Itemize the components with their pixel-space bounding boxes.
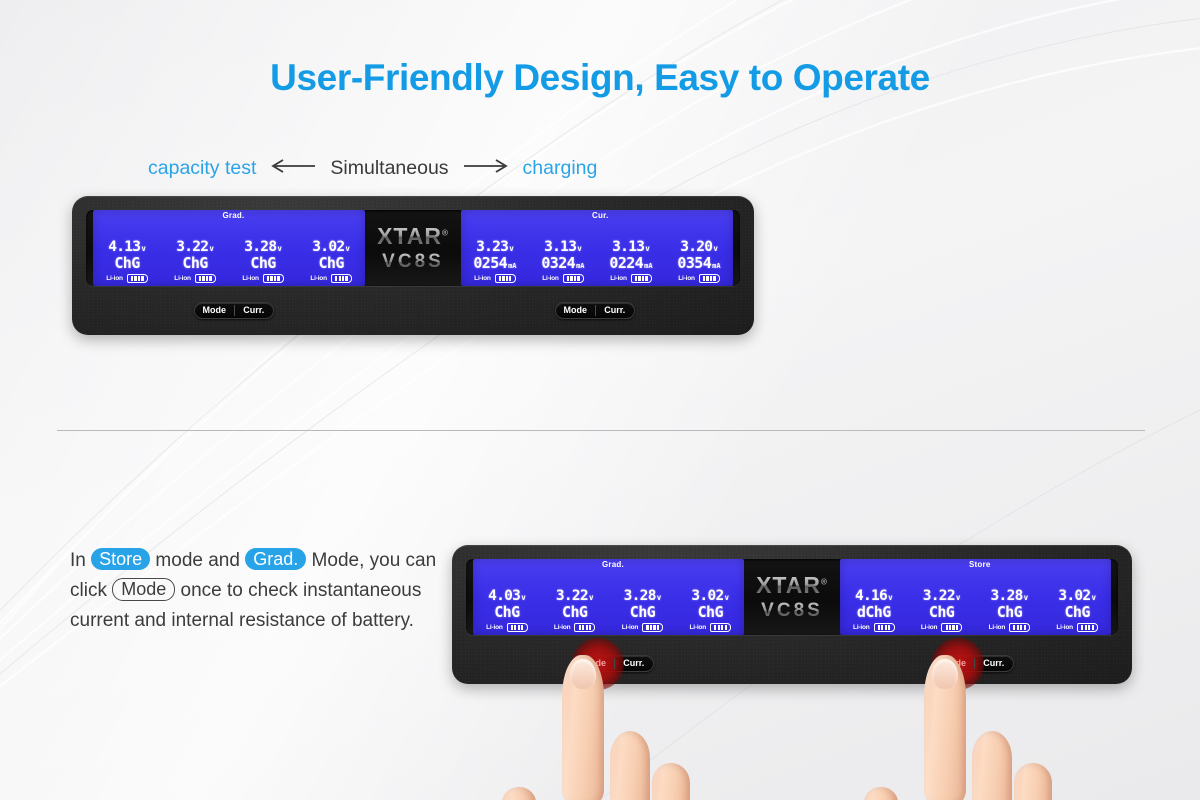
slot-chemistry-label: Li-ion [1056,624,1073,631]
battery-slot: 4.03v ChG Li-ion [473,559,541,635]
battery-slot: 3.13v 0224mA Li-ion [597,210,665,286]
slot-current-unit: mA [576,263,584,270]
copy-part-2: mode and [150,550,245,571]
slot-voltage: 3.02 [691,589,723,604]
slot-chemistry-label: Li-ion [622,624,639,631]
slot-current: 0324 [541,256,575,271]
slot-voltage-unit: v [509,245,514,253]
battery-slot: 3.22v ChG Li-ion [161,210,229,286]
slot-current-unit: mA [644,263,652,270]
registered-trademark-icon: ® [821,577,828,586]
slot-voltage-unit: v [725,594,730,602]
battery-level-icon [1077,623,1098,632]
mode-button-label[interactable]: Mode [195,306,234,315]
slot-chemistry-label: Li-ion [474,275,491,282]
little-finger [864,787,898,800]
left-hand-pressing-mode [500,655,720,800]
curr-button-label[interactable]: Curr. [235,306,274,315]
slot-voltage: 3.22 [176,240,208,255]
battery-level-icon [574,623,595,632]
slot-chemistry-label: Li-ion [310,275,327,282]
battery-slot: 3.02v ChG Li-ion [1043,559,1111,635]
slot-chemistry-label: Li-ion [853,624,870,631]
slot-chemistry-label: Li-ion [174,275,191,282]
fingernail [570,659,596,689]
instruction-text: In Store mode and Grad. Mode, you can cl… [70,546,445,636]
brand-model: VC8S [756,600,828,622]
slot-status: ChG [698,605,723,620]
slot-status: ChG [630,605,655,620]
index-finger [924,655,966,800]
mode-button-reference: Mode [112,578,175,601]
slot-voltage-unit: v [1091,594,1096,602]
slot-status: ChG [997,605,1022,620]
slot-voltage-unit: v [888,594,893,602]
slot-voltage: 3.22 [556,589,588,604]
slot-voltage: 3.20 [680,240,712,255]
slot-status: ChG [182,256,207,271]
slot-status: ChG [494,605,519,620]
slot-chemistry-label: Li-ion [610,275,627,282]
slot-voltage: 4.03 [488,589,520,604]
top-charger: Grad. 4.13v ChG Li-ion 3.22v ChG Li-ion … [72,196,754,335]
slot-chemistry-label: Li-ion [678,275,695,282]
battery-slot: 4.16v dChG Li-ion [840,559,908,635]
brand-logo: XTAR® VC8S [365,223,461,273]
battery-level-icon [331,274,352,283]
battery-slot: 4.13v ChG Li-ion [93,210,161,286]
battery-level-icon [874,623,895,632]
slot-status: ChG [250,256,275,271]
top-charger-left-screen: Grad. 4.13v ChG Li-ion 3.22v ChG Li-ion … [93,210,365,286]
slot-status: ChG [1064,605,1089,620]
top-charger-left-mode-curr-button[interactable]: Mode Curr. [194,302,274,319]
battery-level-icon [263,274,284,283]
slot-current: 0224 [609,256,643,271]
slot-chemistry-label: Li-ion [689,624,706,631]
battery-slot: 3.28v ChG Li-ion [975,559,1043,635]
slot-status: dChG [857,605,891,620]
slot-voltage: 3.02 [1058,589,1090,604]
slot-current: 0254 [473,256,507,271]
page-title: User-Friendly Design, Easy to Operate [0,57,1200,99]
arrow-left-icon [269,157,317,180]
section-divider [57,430,1145,431]
slot-chemistry-label: Li-ion [242,275,259,282]
slot-current-unit: mA [508,263,516,270]
battery-slot: 3.23v 0254mA Li-ion [461,210,529,286]
slot-voltage: 3.02 [312,240,344,255]
slot-chemistry-label: Li-ion [106,275,123,282]
battery-level-icon [642,623,663,632]
right-hand-pressing-mode [862,655,1082,800]
slot-voltage-unit: v [657,594,662,602]
middle-finger [972,731,1012,800]
slot-voltage: 3.28 [244,240,276,255]
top-charger-right-mode-curr-button[interactable]: Mode Curr. [555,302,635,319]
slot-voltage: 3.23 [476,240,508,255]
battery-slot: 3.22v ChG Li-ion [908,559,976,635]
brand-name: XTAR® [377,223,449,250]
simultaneous-subline: capacity test Simultaneous charging [148,157,597,180]
battery-slot: 3.20v 0354mA Li-ion [665,210,733,286]
battery-slot: 3.28v ChG Li-ion [609,559,677,635]
subline-capacity-test-label: capacity test [148,157,256,180]
battery-level-icon [563,274,584,283]
bottom-charger-right-screen: Store 4.16v dChG Li-ion 3.22v ChG Li-ion… [840,559,1111,635]
slot-voltage-unit: v [577,245,582,253]
index-finger [562,655,604,800]
slot-voltage: 3.28 [624,589,656,604]
slot-chemistry-label: Li-ion [989,624,1006,631]
slot-voltage-unit: v [345,245,350,253]
top-charger-right-screen: Cur. 3.23v 0254mA Li-ion 3.13v 0324mA Li… [461,210,733,286]
battery-level-icon [631,274,652,283]
battery-slot: 3.22v ChG Li-ion [541,559,609,635]
little-finger [502,787,536,800]
brand-name: XTAR® [756,572,828,599]
brand-logo: XTAR® VC8S [744,572,840,622]
slot-chemistry-label: Li-ion [554,624,571,631]
middle-finger [610,731,650,800]
slot-voltage: 3.13 [544,240,576,255]
slot-voltage-unit: v [277,245,282,253]
slot-status: ChG [318,256,343,271]
slot-voltage-unit: v [589,594,594,602]
slot-voltage: 3.22 [923,589,955,604]
slot-voltage-unit: v [1024,594,1029,602]
slot-voltage: 3.13 [612,240,644,255]
curr-button-label[interactable]: Curr. [596,306,635,315]
subline-charging-label: charging [523,157,598,180]
brand-model: VC8S [377,251,449,273]
slot-chemistry-label: Li-ion [921,624,938,631]
slot-current: 0354 [677,256,711,271]
battery-level-icon [1009,623,1030,632]
mode-button-label[interactable]: Mode [556,306,595,315]
top-charger-display-panel: Grad. 4.13v ChG Li-ion 3.22v ChG Li-ion … [86,210,740,286]
slot-voltage: 4.13 [108,240,140,255]
slot-voltage-unit: v [141,245,146,253]
registered-trademark-icon: ® [442,228,449,237]
slot-voltage-unit: v [645,245,650,253]
battery-level-icon [495,274,516,283]
ring-finger [1014,763,1052,800]
battery-slot: 3.13v 0324mA Li-ion [529,210,597,286]
slot-voltage-unit: v [956,594,961,602]
battery-level-icon [507,623,528,632]
battery-slot: 3.28v ChG Li-ion [229,210,297,286]
battery-slot: 3.02v ChG Li-ion [297,210,365,286]
bottom-charger-display-panel: Grad. 4.03v ChG Li-ion 3.22v ChG Li-ion … [466,559,1118,635]
battery-level-icon [195,274,216,283]
battery-level-icon [710,623,731,632]
grad-mode-highlight: Grad. [245,548,306,570]
battery-level-icon [127,274,148,283]
fingernail [932,659,958,689]
slot-voltage: 3.28 [991,589,1023,604]
bottom-charger-left-screen: Grad. 4.03v ChG Li-ion 3.22v ChG Li-ion … [473,559,744,635]
slot-voltage-unit: v [713,245,718,253]
arrow-right-icon [462,157,510,180]
slot-voltage-unit: v [209,245,214,253]
copy-part-1: In [70,550,91,571]
ring-finger [652,763,690,800]
slot-chemistry-label: Li-ion [486,624,503,631]
slot-status: ChG [114,256,139,271]
slot-voltage-unit: v [521,594,526,602]
subline-simultaneous-label: Simultaneous [330,157,448,180]
slot-chemistry-label: Li-ion [542,275,559,282]
battery-level-icon [941,623,962,632]
slot-voltage: 4.16 [855,589,887,604]
battery-level-icon [699,274,720,283]
battery-slot: 3.02v ChG Li-ion [676,559,744,635]
store-mode-highlight: Store [91,548,150,570]
slot-status: ChG [562,605,587,620]
slot-current-unit: mA [712,263,720,270]
slot-status: ChG [929,605,954,620]
